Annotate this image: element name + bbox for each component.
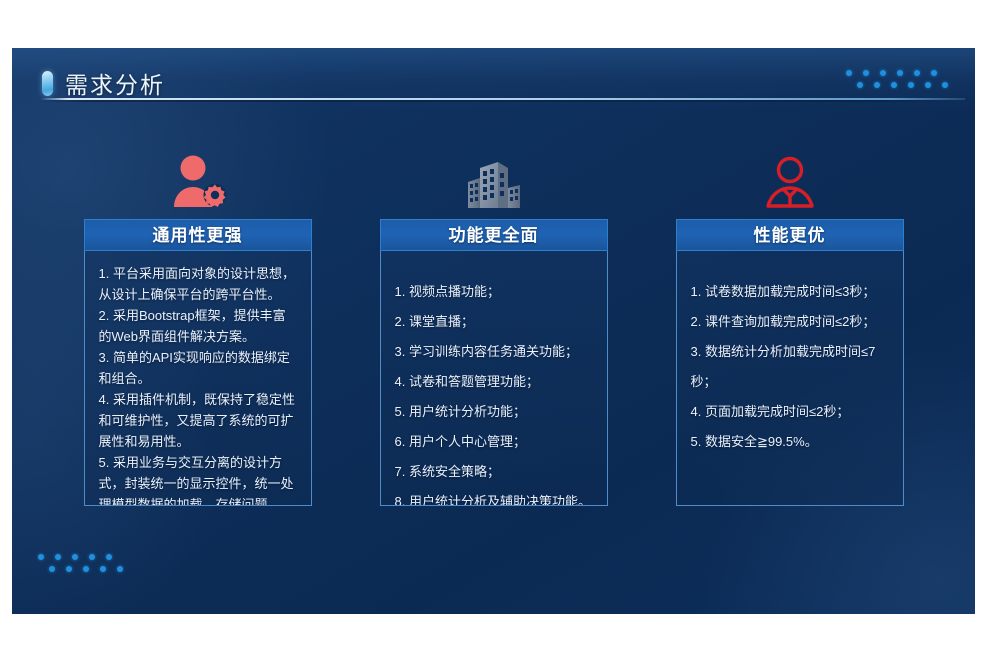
feature-card-performance: 性能更优 1. 试卷数据加载完成时间≤3秒； 2. 课件查询加载完成时间≤2秒；… [676, 148, 904, 506]
feature-line: 4. 页面加载完成时间≤2秒； [691, 397, 889, 427]
feature-line: 5. 数据安全≧99.5%。 [691, 427, 889, 457]
buildings-icon [462, 148, 526, 210]
decor-dot [931, 70, 937, 76]
feature-card-heading: 功能更全面 [380, 219, 608, 251]
feature-line: 5. 采用业务与交互分离的设计方式，封装统一的显示控件，统一处理模型数据的加载、… [99, 452, 297, 506]
decor-dot [83, 566, 89, 572]
decor-dot-row [38, 554, 123, 560]
decor-dots-bottom-left [38, 554, 123, 572]
decor-dot [72, 554, 78, 560]
decor-dot-row [49, 566, 123, 572]
user-settings-icon [168, 148, 228, 210]
feature-line: 4. 采用插件机制，既保持了稳定性和可维护性，又提高了系统的可扩展性和易用性。 [99, 389, 297, 452]
feature-line: 1. 视频点播功能； [395, 277, 593, 307]
feature-line: 8. 用户统计分析及辅助决策功能。 [395, 487, 593, 506]
pill-marker-icon [42, 71, 53, 96]
feature-card-body: 1. 视频点播功能； 2. 课堂直播； 3. 学习训练内容任务通关功能； 4. … [380, 251, 608, 506]
screenshot-root: 需求分析 [0, 0, 1000, 667]
feature-card-functionality: 功能更全面 1. 视频点播功能； 2. 课堂直播； 3. 学习训练内容任务通关功… [380, 148, 608, 506]
decor-dot [863, 70, 869, 76]
feature-line: 2. 课堂直播； [395, 307, 593, 337]
decor-dot [89, 554, 95, 560]
decor-dot [106, 554, 112, 560]
presentation-slide: 需求分析 [12, 48, 975, 614]
page-title: 需求分析 [42, 66, 165, 100]
decor-dot [897, 70, 903, 76]
feature-line: 3. 学习训练内容任务通关功能； [395, 337, 593, 367]
decor-dot [100, 566, 106, 572]
decor-dot [942, 82, 948, 88]
decor-dot [49, 566, 55, 572]
feature-line: 6. 用户个人中心管理； [395, 427, 593, 457]
feature-line: 4. 试卷和答题管理功能； [395, 367, 593, 397]
decor-dot [908, 82, 914, 88]
decor-dot [874, 82, 880, 88]
title-divider-shadow [40, 100, 965, 102]
feature-card-body: 1. 平台采用面向对象的设计思想，从设计上确保平台的跨平台性。 2. 采用Boo… [84, 251, 312, 506]
feature-card-heading: 性能更优 [676, 219, 904, 251]
feature-line: 2. 采用Bootstrap框架，提供丰富的Web界面组件解决方案。 [99, 305, 297, 347]
decor-dot [66, 566, 72, 572]
feature-line: 3. 简单的API实现响应的数据绑定和组合。 [99, 347, 297, 389]
feature-card-body: 1. 试卷数据加载完成时间≤3秒； 2. 课件查询加载完成时间≤2秒； 3. 数… [676, 251, 904, 506]
decor-dot [117, 566, 123, 572]
decor-dot [925, 82, 931, 88]
feature-line: 5. 用户统计分析功能； [395, 397, 593, 427]
decor-dot-row [857, 82, 948, 88]
feature-card-group: 通用性更强 1. 平台采用面向对象的设计思想，从设计上确保平台的跨平台性。 2.… [12, 148, 975, 506]
decor-dot [914, 70, 920, 76]
decor-dots-top-right [846, 70, 948, 88]
feature-line: 2. 课件查询加载完成时间≤2秒； [691, 307, 889, 337]
feature-line: 1. 试卷数据加载完成时间≤3秒； [691, 277, 889, 307]
feature-card-generality: 通用性更强 1. 平台采用面向对象的设计思想，从设计上确保平台的跨平台性。 2.… [84, 148, 312, 506]
feature-line: 3. 数据统计分析加载完成时间≤7秒； [691, 337, 889, 397]
decor-dot [857, 82, 863, 88]
feature-line: 1. 平台采用面向对象的设计思想，从设计上确保平台的跨平台性。 [99, 263, 297, 305]
decor-dot [38, 554, 44, 560]
decor-dot [55, 554, 61, 560]
page-title-label: 需求分析 [65, 66, 165, 100]
businessman-outline-icon [761, 148, 819, 210]
decor-dot [880, 70, 886, 76]
decor-dot [891, 82, 897, 88]
decor-dot-row [846, 70, 948, 76]
feature-card-heading: 通用性更强 [84, 219, 312, 251]
feature-line: 7. 系统安全策略； [395, 457, 593, 487]
decor-dot [846, 70, 852, 76]
